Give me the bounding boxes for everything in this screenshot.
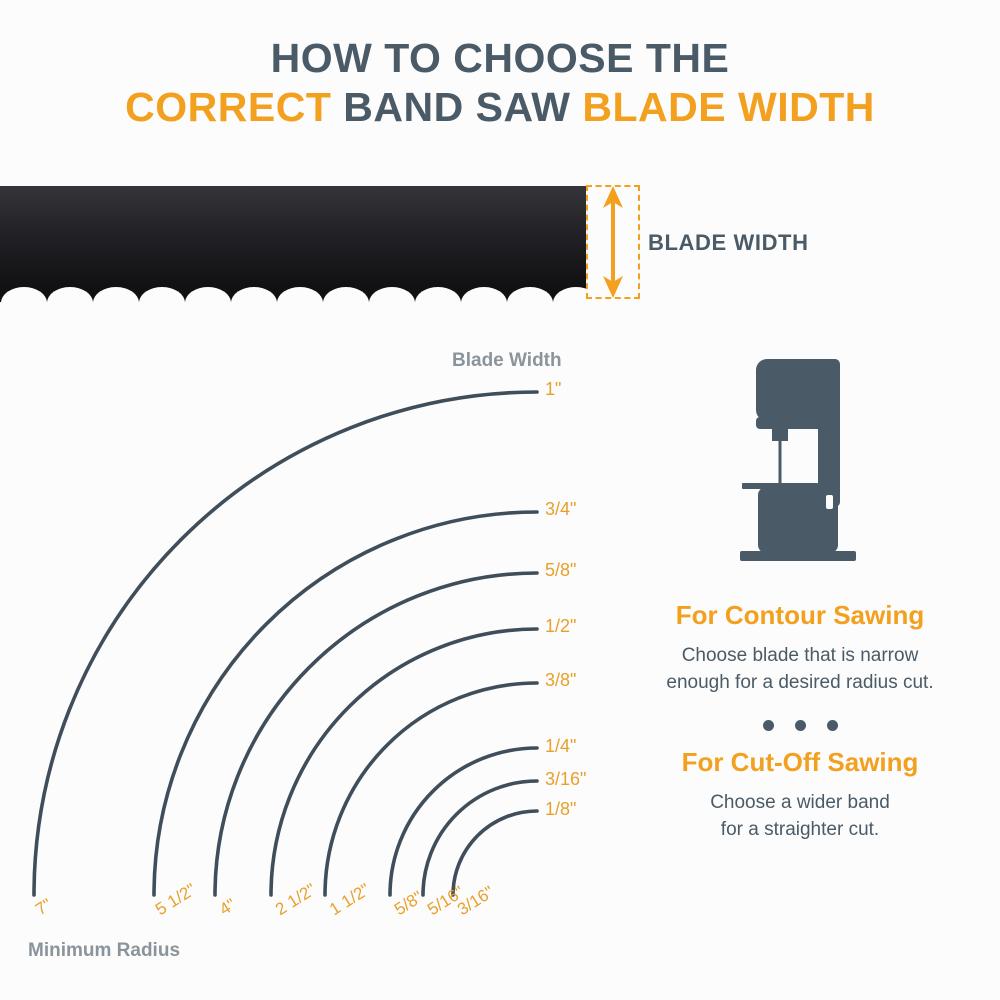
three-dots-divider-icon xyxy=(600,719,1000,731)
tip-contour-sawing: For Contour Sawing Choose blade that is … xyxy=(600,600,1000,697)
divider-dot-1 xyxy=(763,720,774,731)
tip-contour-heading: For Contour Sawing xyxy=(600,600,1000,631)
arc-label-blade-width-1: 3/4" xyxy=(545,499,576,520)
tip-contour-body-line1: Choose blade that is narrow xyxy=(682,645,919,666)
tip-cut-off-sawing: For Cut-Off Sawing Choose a wider band f… xyxy=(600,747,1000,844)
tip-cut-off-heading: For Cut-Off Sawing xyxy=(600,747,1000,778)
double-headed-vertical-arrow-icon xyxy=(600,186,626,298)
title-word-blade-width: BLADE WIDTH xyxy=(582,84,874,130)
band-saw-machine-icon xyxy=(712,355,892,565)
infographic-page: HOW TO CHOOSE THE CORRECT BAND SAW BLADE… xyxy=(0,0,1000,1000)
arc-label-blade-width-2: 5/8" xyxy=(545,560,576,581)
title-word-correct: CORRECT xyxy=(125,84,331,130)
chart-minimum-radius-axis-title: Minimum Radius xyxy=(28,940,180,962)
tip-cut-off-body-line2: for a straighter cut. xyxy=(721,819,879,840)
page-title: HOW TO CHOOSE THE CORRECT BAND SAW BLADE… xyxy=(0,38,1000,129)
title-line-2: CORRECT BAND SAW BLADE WIDTH xyxy=(0,87,1000,129)
blade-width-callout-label: BLADE WIDTH xyxy=(648,230,809,256)
sawing-tips-column: For Contour Sawing Choose blade that is … xyxy=(600,600,1000,844)
tip-cut-off-body-line1: Choose a wider band xyxy=(710,792,890,813)
arc-label-blade-width-4: 3/8" xyxy=(545,670,576,691)
arc-label-blade-width-7: 1/8" xyxy=(545,799,576,820)
tip-contour-body: Choose blade that is narrow enough for a… xyxy=(600,643,1000,697)
blade-teeth xyxy=(0,285,586,302)
arc-label-blade-width-5: 1/4" xyxy=(545,736,576,757)
blade-body xyxy=(0,186,586,286)
band-saw-blade-illustration xyxy=(0,186,586,302)
tip-cut-off-body: Choose a wider band for a straighter cut… xyxy=(600,790,1000,844)
title-line-1: HOW TO CHOOSE THE xyxy=(0,38,1000,80)
title-word-band-saw: BAND SAW xyxy=(343,84,570,130)
minimum-radius-arc-chart xyxy=(0,330,620,950)
tip-contour-body-line2: enough for a desired radius cut. xyxy=(666,672,933,693)
divider-dot-3 xyxy=(827,720,838,731)
arc-label-blade-width-6: 3/16" xyxy=(545,769,586,790)
arc-label-blade-width-0: 1" xyxy=(545,379,561,400)
arc-label-blade-width-3: 1/2" xyxy=(545,616,576,637)
divider-dot-2 xyxy=(795,720,806,731)
